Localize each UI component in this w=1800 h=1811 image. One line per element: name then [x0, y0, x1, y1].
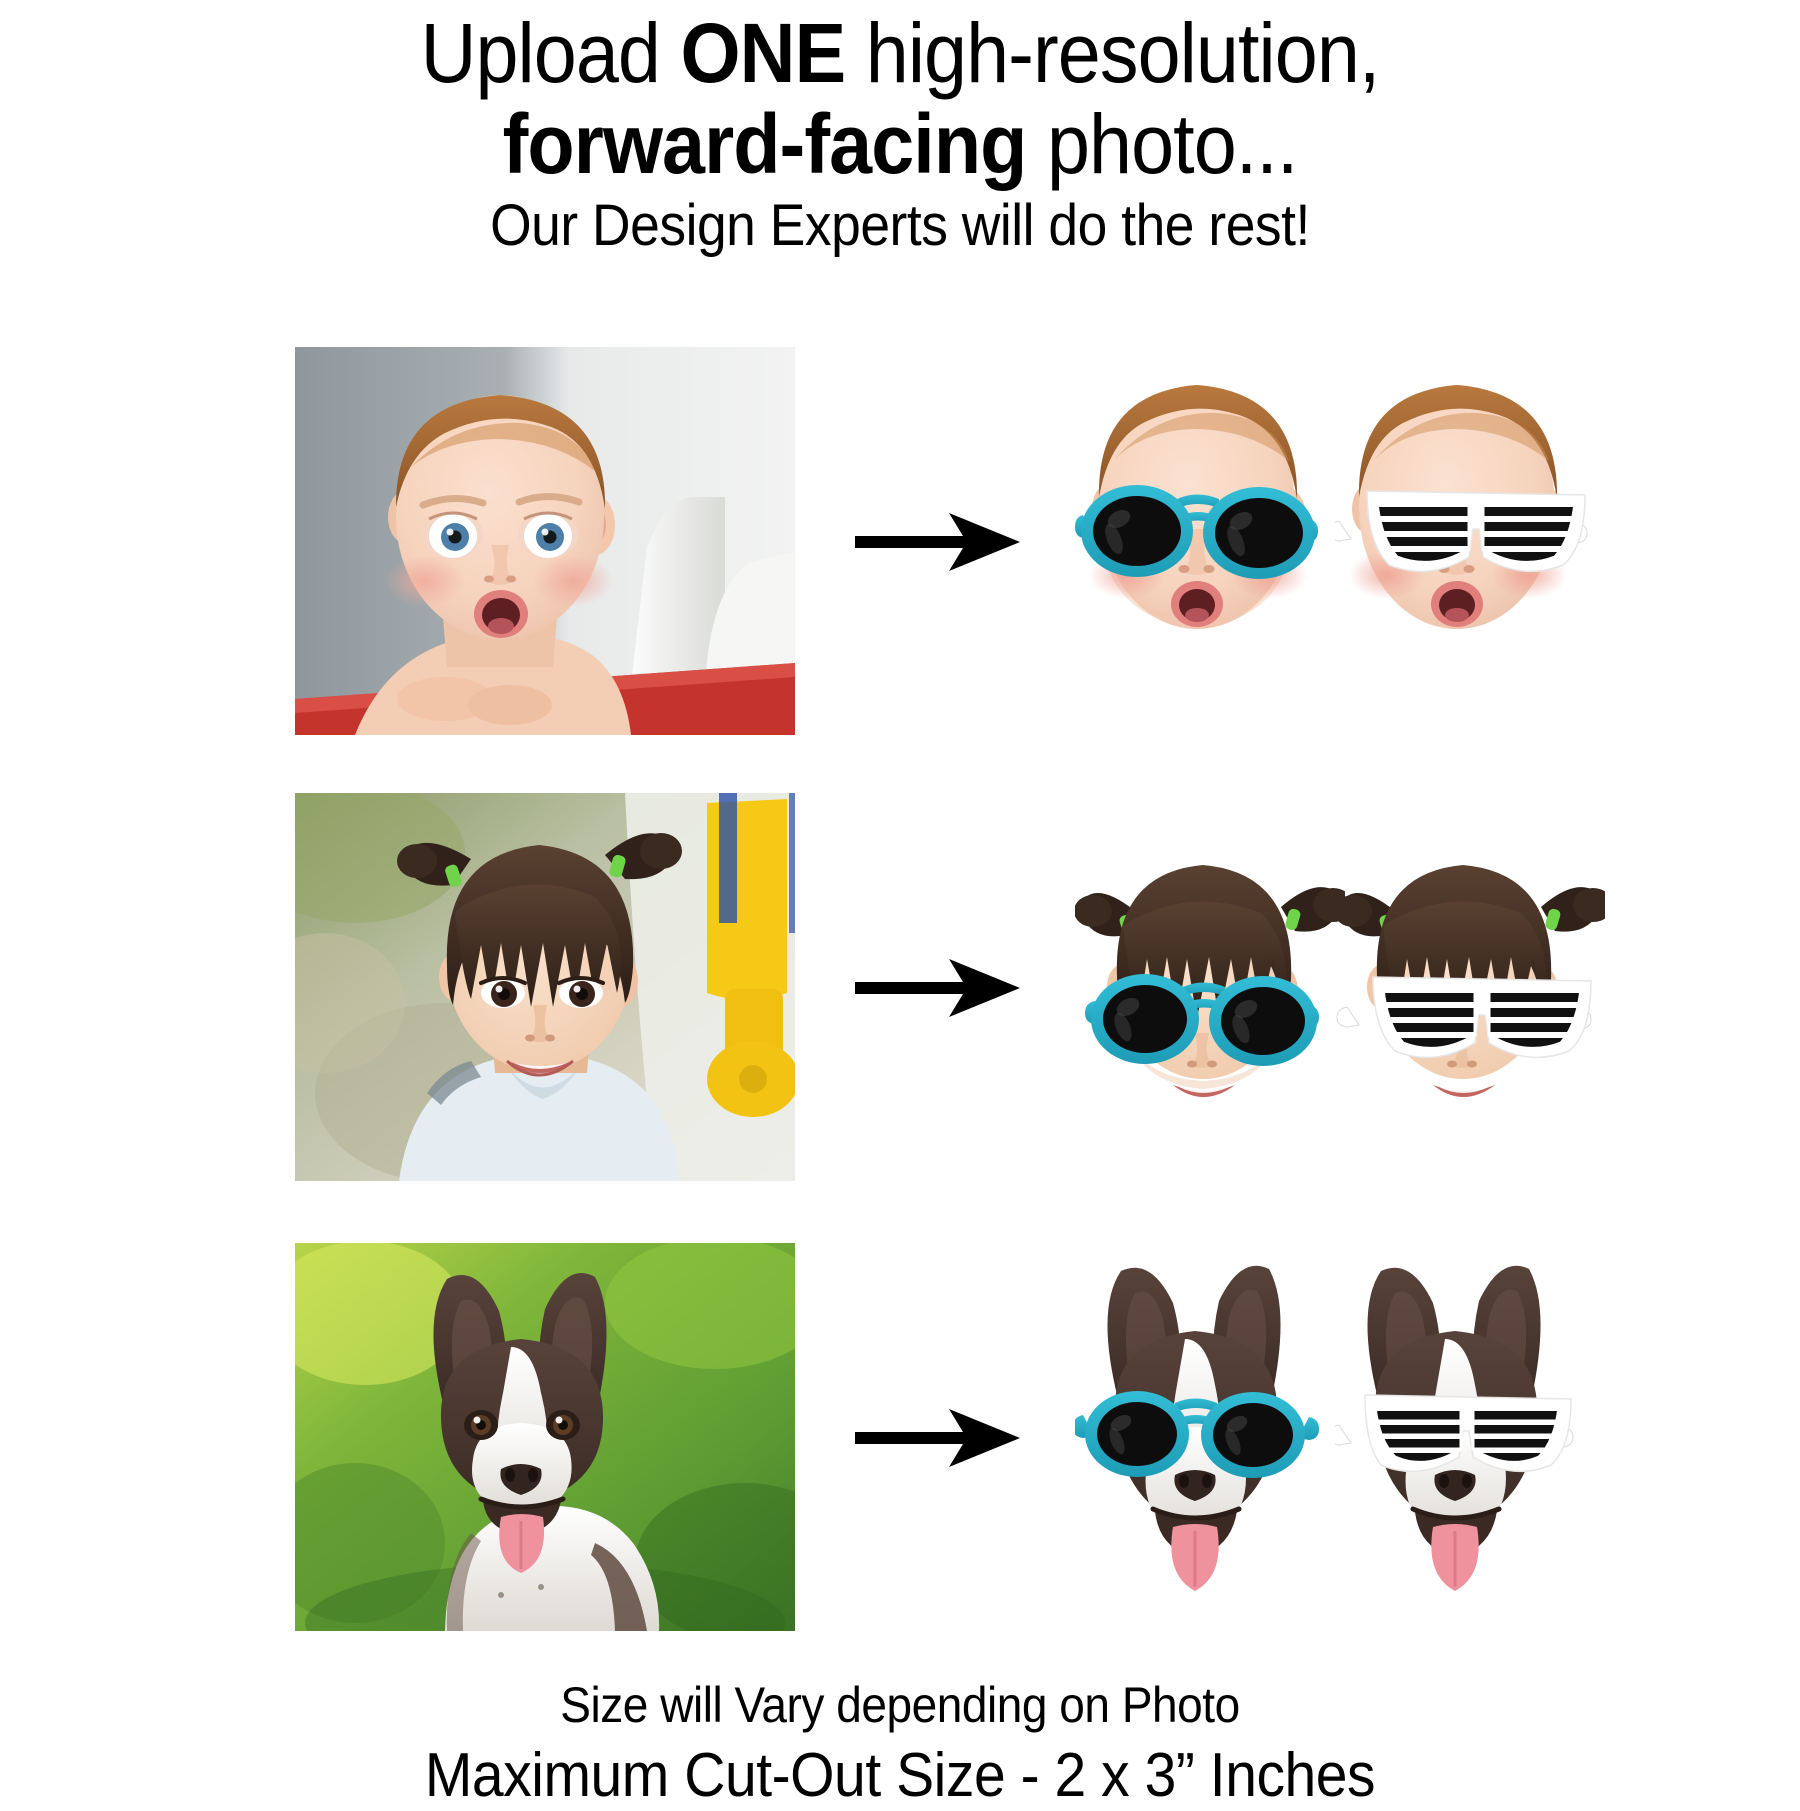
dog-shutter-shades-cutout	[1335, 1243, 1605, 1631]
source-photo-baby	[295, 347, 795, 735]
page-subtitle: Our Design Experts will do the rest!	[72, 192, 1728, 259]
headline-line-2: forward-facing photo...	[72, 99, 1728, 190]
dog-teal-sunglasses-cutout	[1075, 1243, 1345, 1631]
girl-shutter-shades-cutout	[1335, 793, 1605, 1181]
size-vary-note: Size will Vary depending on Photo	[72, 1676, 1728, 1734]
right-arrow-icon	[855, 953, 1020, 1023]
right-arrow-icon	[855, 1403, 1020, 1473]
girl-teal-sunglasses-cutout	[1075, 793, 1345, 1181]
source-photo-girl	[295, 793, 795, 1181]
example-row-girl	[0, 793, 1800, 1183]
baby-teal-sunglasses-cutout	[1075, 347, 1345, 735]
headline-emphasis-forward-facing: forward-facing	[503, 97, 1027, 191]
baby-shutter-shades-cutout	[1335, 347, 1605, 735]
headline-line-1: Upload ONE high-resolution,	[421, 6, 1380, 100]
max-cutout-size-note: Maximum Cut-Out Size - 2 x 3” Inches	[72, 1740, 1728, 1811]
example-row-baby	[0, 347, 1800, 737]
source-photo-dog	[295, 1243, 795, 1631]
example-row-dog	[0, 1243, 1800, 1633]
right-arrow-icon	[855, 507, 1020, 577]
footer-notes: Size will Vary depending on Photo Maximu…	[0, 1676, 1800, 1811]
headline-emphasis-one: ONE	[680, 6, 845, 100]
promo-page: Upload ONE high-resolution, forward-faci…	[0, 0, 1800, 1800]
page-title: Upload ONE high-resolution, forward-faci…	[72, 8, 1728, 189]
